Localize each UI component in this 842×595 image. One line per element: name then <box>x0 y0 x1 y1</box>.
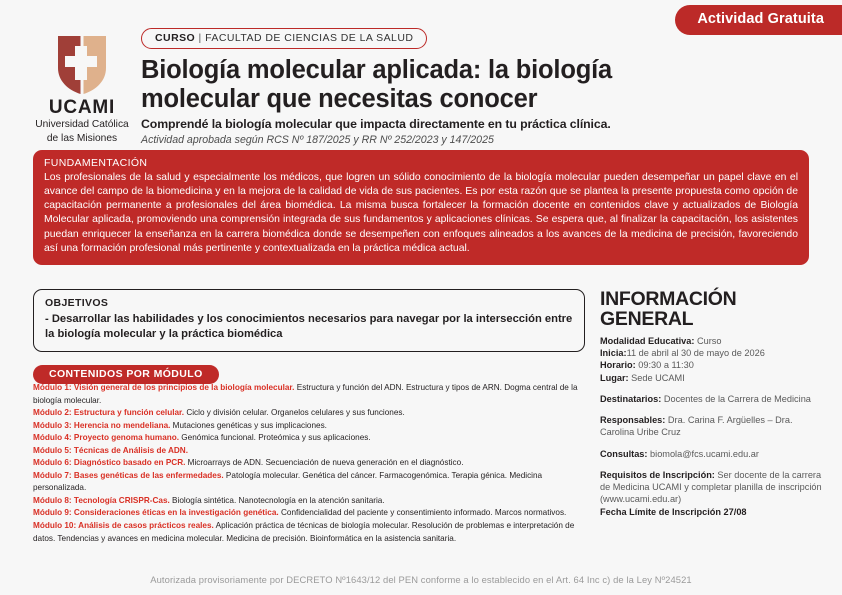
objetivos-body: - Desarrollar las habilidades y los cono… <box>45 312 573 342</box>
modules-list: Módulo 1: Visión general de los principi… <box>33 382 588 545</box>
module-item: Módulo 1: Visión general de los principi… <box>33 382 588 407</box>
info-inicia-row: Inicia:11 de abril al 30 de mayo de 2026 <box>600 347 828 359</box>
objetivos-title: OBJETIVOS <box>45 297 573 309</box>
contenidos-pill-label: CONTENIDOS POR MÓDULO <box>49 368 203 380</box>
info-destinatarios-block: Destinatarios: Docentes de la Carrera de… <box>600 393 828 405</box>
info-destinatarios-value: Docentes de la Carrera de Medicina <box>661 394 811 404</box>
course-faculty-pill: CURSO | FACULTAD DE CIENCIAS DE LA SALUD <box>141 28 427 49</box>
module-heading: Módulo 7: Bases genéticas de las enferme… <box>33 471 224 480</box>
info-modalidad-row: Modalidad Educativa: Curso <box>600 335 828 347</box>
header: UCAMI Universidad Católica de las Mision… <box>0 0 842 148</box>
module-description: Ciclo y división celular. Organelos celu… <box>184 408 405 417</box>
info-lugar-label: Lugar: <box>600 373 629 383</box>
module-item: Módulo 7: Bases genéticas de las enferme… <box>33 470 588 495</box>
info-inicia-label: Inicia: <box>600 348 627 358</box>
info-responsables-block: Responsables: Dra. Carina F. Argüelles –… <box>600 414 828 438</box>
approval-note: Actividad aprobada según RCS Nº 187/2025… <box>141 134 832 146</box>
module-heading: Módulo 6: Diagnóstico basado en PCR. <box>33 458 185 467</box>
info-responsables-label: Responsables: <box>600 415 665 425</box>
module-description: Confidencialidad del paciente y consenti… <box>279 508 567 517</box>
module-heading: Módulo 1: Visión general de los principi… <box>33 383 294 392</box>
fundamentacion-title: FUNDAMENTACIÓN <box>44 157 798 169</box>
module-item: Módulo 2: Estructura y función celular. … <box>33 407 588 420</box>
legal-footer: Autorizada provisoriamente por DECRETO N… <box>0 574 842 585</box>
module-heading: Módulo 3: Herencia no mendeliana. <box>33 421 170 430</box>
page-title: Biología molecular aplicada: la biología… <box>141 56 641 114</box>
fundamentacion-body: Los profesionales de la salud y especial… <box>44 171 798 256</box>
module-item: Módulo 10: Análisis de casos prácticos r… <box>33 520 588 545</box>
module-heading: Módulo 4: Proyecto genoma humano. <box>33 433 179 442</box>
module-description: Mutaciones genéticas y sus implicaciones… <box>170 421 327 430</box>
legal-footer-text: Autorizada provisoriamente por DECRETO N… <box>150 574 691 585</box>
ucami-shield-icon <box>54 34 110 96</box>
module-heading: Módulo 8: Tecnología CRISPR-Cas. <box>33 496 170 505</box>
logo-name: UCAMI <box>27 98 137 118</box>
module-description: Microarrays de ADN. Secuenciación de nue… <box>185 458 463 467</box>
module-heading: Módulo 10: Análisis de casos prácticos r… <box>33 521 214 530</box>
info-horario-label: Horario: <box>600 360 636 370</box>
module-item: Módulo 6: Diagnóstico basado en PCR. Mic… <box>33 457 588 470</box>
module-description: Biología sintética. Nanotecnología en la… <box>170 496 385 505</box>
info-modalidad-label: Modalidad Educativa: <box>600 336 694 346</box>
fundamentacion-section: FUNDAMENTACIÓN Los profesionales de la s… <box>33 150 809 265</box>
module-item: Módulo 4: Proyecto genoma humano. Genómi… <box>33 432 588 445</box>
info-inicia-value: 11 de abril al 30 de mayo de 2026 <box>627 348 765 358</box>
module-item: Módulo 8: Tecnología CRISPR-Cas. Biologí… <box>33 495 588 508</box>
informacion-general-heading: INFORMACIÓN GENERAL <box>600 289 828 330</box>
info-horario-value: 09:30 a 11:30 <box>636 360 694 370</box>
logo-subtitle-line2: de las Misiones <box>27 133 137 146</box>
page-subtitle: Comprendé la biología molecular que impa… <box>141 117 832 131</box>
module-item: Módulo 5: Técnicas de Análisis de ADN. <box>33 445 588 458</box>
info-modalidad-value: Curso <box>694 336 721 346</box>
info-consultas-email[interactable]: biomola@fcs.ucami.edu.ar <box>647 449 758 459</box>
info-requisitos-block: Requisitos de Inscripción: Ser docente d… <box>600 469 828 518</box>
info-lugar-row: Lugar: Sede UCAMI <box>600 372 828 384</box>
info-destinatarios-label: Destinatarios: <box>600 394 661 404</box>
info-schedule-block: Modalidad Educativa: Curso Inicia:11 de … <box>600 335 828 384</box>
flyer-page: Actividad Gratuita UCAMI Universidad Cat… <box>0 0 842 595</box>
logo-subtitle-line1: Universidad Católica <box>27 119 137 132</box>
pill-faculty-label: FACULTAD DE CIENCIAS DE LA SALUD <box>205 32 413 44</box>
header-text-block: CURSO | FACULTAD DE CIENCIAS DE LA SALUD… <box>141 28 832 146</box>
pill-separator: | <box>195 32 205 44</box>
info-lugar-value: Sede UCAMI <box>629 373 685 383</box>
ucami-logo: UCAMI Universidad Católica de las Mision… <box>27 34 137 145</box>
module-heading: Módulo 9: Consideraciones éticas en la i… <box>33 508 279 517</box>
info-horario-row: Horario: 09:30 a 11:30 <box>600 359 828 371</box>
pill-course-label: CURSO <box>155 32 195 44</box>
info-fecha-limite: Fecha Límite de Inscripción 27/08 <box>600 507 747 517</box>
info-consultas-block: Consultas: biomola@fcs.ucami.edu.ar <box>600 448 828 460</box>
informacion-general-section: INFORMACIÓN GENERAL Modalidad Educativa:… <box>600 289 828 518</box>
module-description: Genómica funcional. Proteómica y sus apl… <box>179 433 371 442</box>
module-item: Módulo 9: Consideraciones éticas en la i… <box>33 507 588 520</box>
objetivos-section: OBJETIVOS - Desarrollar las habilidades … <box>33 289 585 352</box>
module-item: Módulo 3: Herencia no mendeliana. Mutaci… <box>33 420 588 433</box>
info-consultas-label: Consultas: <box>600 449 647 459</box>
module-heading: Módulo 5: Técnicas de Análisis de ADN. <box>33 446 188 455</box>
info-requisitos-label: Requisitos de Inscripción: <box>600 470 715 480</box>
module-heading: Módulo 2: Estructura y función celular. <box>33 408 184 417</box>
